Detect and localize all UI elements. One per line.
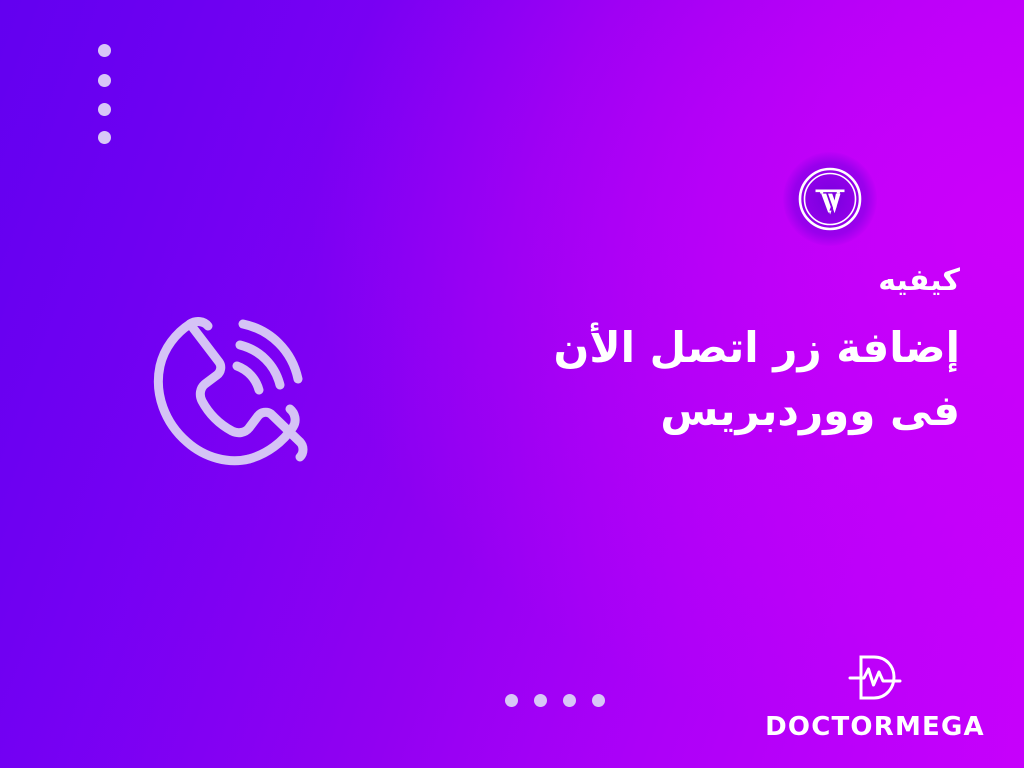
wordpress-logo-icon	[797, 166, 863, 232]
decorative-dot	[98, 103, 111, 116]
headline-line-2: فى ووردبريس	[490, 379, 960, 442]
decorative-dot	[563, 694, 576, 707]
decorative-dot	[592, 694, 605, 707]
brand-wordmark: DOCTORMEGA	[760, 714, 990, 740]
brand-lockup: DOCTORMEGA	[760, 652, 990, 740]
decorative-dot	[98, 44, 111, 57]
phone-ringing-svg	[143, 302, 308, 467]
phone-ringing-icon	[143, 302, 308, 467]
headline-kicker: كيفيه	[490, 262, 960, 300]
headline-block: كيفيه إضافة زر اتصل الأن فى ووردبريس	[490, 262, 960, 442]
wordpress-badge	[797, 166, 863, 232]
decorative-dot	[534, 694, 547, 707]
headline-line-1: إضافة زر اتصل الأن	[490, 316, 960, 379]
poster-canvas: كيفيه إضافة زر اتصل الأن فى ووردبريس DOC…	[0, 0, 1024, 768]
doctormega-d-pulse-logo-icon	[846, 652, 904, 704]
decorative-dot	[98, 131, 111, 144]
decorative-dot	[98, 74, 111, 87]
decorative-dot	[505, 694, 518, 707]
